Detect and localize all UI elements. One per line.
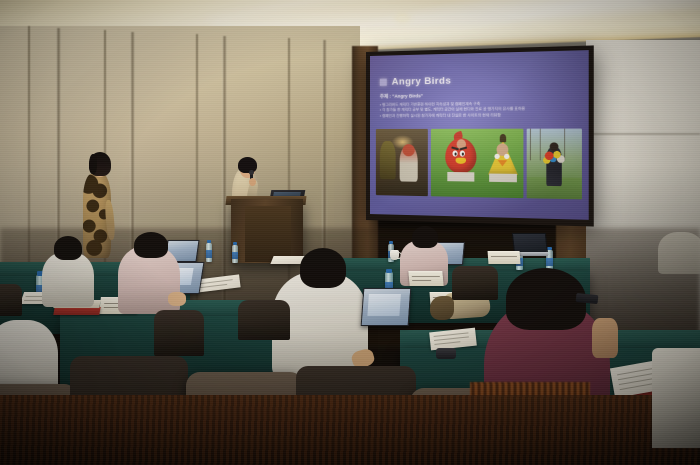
yellow-bird-tuft-icon: [500, 134, 506, 142]
water-bottle: [232, 245, 238, 263]
bottle-label: [206, 250, 212, 258]
chair[interactable]: [0, 284, 22, 316]
chair[interactable]: [238, 300, 290, 340]
conference-room-photo: Angry Birds 주제 : "Angry Birds" • 앵그리버드 캐…: [0, 0, 700, 465]
name-card-tent: [488, 251, 521, 264]
paper-text-line: [199, 279, 232, 284]
carpet: [0, 395, 700, 465]
right-wall-trim-line: [592, 133, 700, 135]
name-card-text-line: [412, 276, 439, 277]
slide-bullet-line: • 캠페인과 진행하학 실시된 참가자에 캐릭터 내 진실로 한 사이트의 현재…: [380, 112, 580, 119]
white-drape-cloth: [652, 348, 700, 448]
paper-text-line: [434, 336, 469, 341]
slide-photo-bird-costumes: [431, 129, 523, 198]
slide-photo-plush-toys: [527, 129, 582, 200]
name-card-text-line: [491, 256, 517, 257]
standing-woman-hair-front: [89, 154, 97, 174]
attendee-front-left-torso: [42, 252, 94, 307]
paper-text-line: [434, 341, 461, 345]
attendee-white-shirt-hair: [300, 248, 346, 288]
photo-figure: [380, 141, 396, 179]
red-bird-pupil-icon: [455, 152, 457, 155]
projection-screen: Angry Birds 주제 : "Angry Birds" • 앵그리버드 캐…: [370, 50, 589, 220]
bottle-label: [232, 252, 238, 259]
slide-photo-indoor-costume: [376, 129, 428, 196]
name-card-tent: [408, 271, 443, 286]
name-card-text-line: [413, 280, 432, 281]
slide-photo-row: [376, 129, 584, 200]
bottle-cap: [386, 269, 392, 273]
microphone-head-icon: [249, 170, 254, 175]
laptop-screen[interactable]: [361, 288, 412, 326]
bottle-cap: [207, 240, 212, 243]
bag-on-chair: [430, 296, 454, 320]
slide-title: Angry Birds: [392, 75, 452, 87]
attendee-pink-shirt-hand: [168, 292, 186, 306]
attendee-far-right-torso: [658, 232, 700, 274]
costume-base-block: [489, 174, 517, 183]
attendee-back-right-hair: [412, 226, 438, 248]
slide-title-row: Angry Birds: [380, 75, 451, 87]
yellow-bird-eye-icon: [494, 154, 499, 159]
paper-text-line: [200, 284, 227, 288]
yellow-bird-eye-icon: [504, 154, 509, 159]
bottle-cap: [389, 241, 394, 244]
chair[interactable]: [452, 266, 498, 300]
bottle-cap: [233, 242, 238, 245]
slide-body: 주제 : "Angry Birds" • 앵그리버드 캐릭터 기반훈련 하이런 …: [380, 91, 580, 119]
attendee-maroon-tshirt-arm: [592, 318, 618, 358]
costume-base-block: [447, 172, 474, 182]
podium-front-panel: [245, 206, 291, 262]
presenter-hair: [238, 157, 257, 173]
red-bird-beak-icon: [456, 158, 466, 164]
slide-subheading: 주제 : "Angry Birds": [380, 91, 580, 100]
mouse-icon[interactable]: [436, 348, 456, 359]
laptop-window-content: [367, 294, 401, 316]
attendee-maroon-tshirt-hair: [506, 268, 586, 330]
bottle-label: [546, 258, 553, 266]
square-bullet-icon: [380, 79, 387, 86]
red-notebook: [53, 307, 100, 315]
photo-figure-head: [403, 144, 415, 156]
photo-plush-toys: [542, 150, 566, 165]
downlight-icon: [398, 16, 407, 20]
presenter-hand: [249, 178, 256, 186]
red-bird-pupil-icon: [462, 153, 464, 156]
chair[interactable]: [154, 310, 204, 356]
attendee-pink-shirt-hair: [134, 232, 168, 258]
water-bottle: [206, 243, 212, 262]
attendee-front-left-hair: [54, 236, 82, 260]
